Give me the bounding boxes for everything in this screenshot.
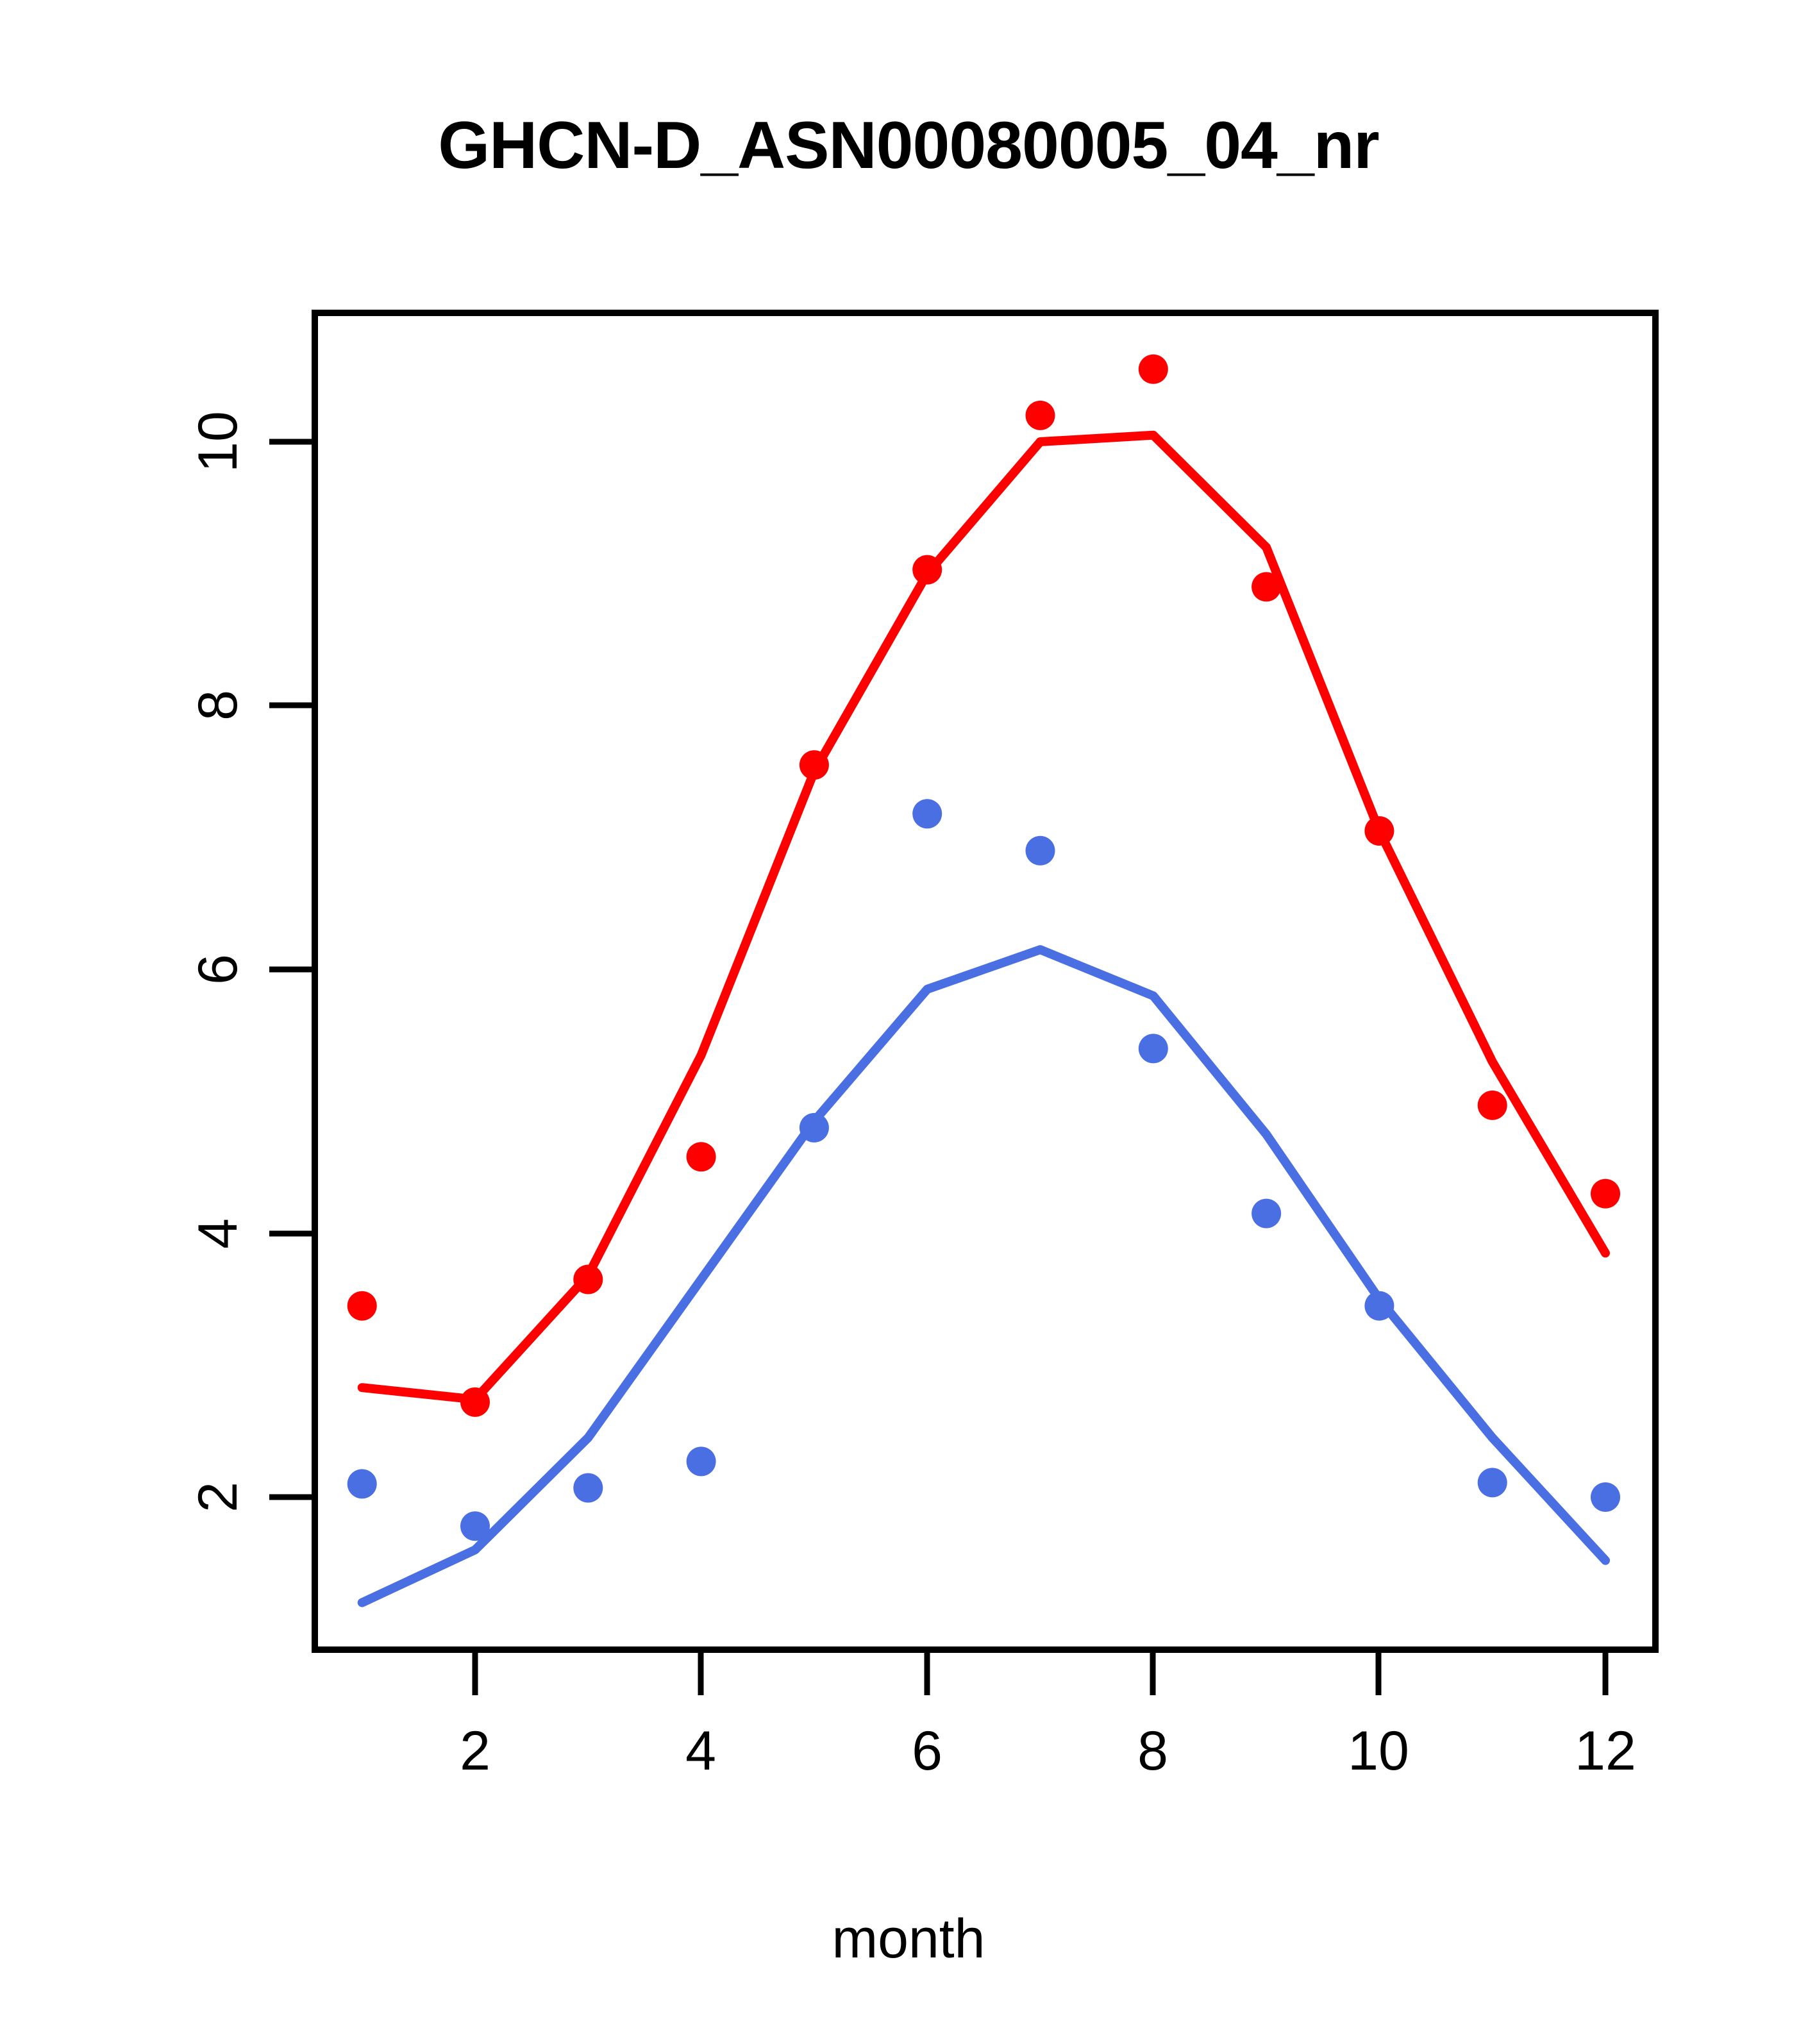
y-tick-label-4: 4: [187, 1218, 249, 1249]
data-point: [1591, 1482, 1620, 1512]
y-axis-ticks: [269, 442, 315, 1497]
x-tick-label-12: 12: [1575, 1720, 1636, 1782]
blue-points: [347, 799, 1620, 1541]
data-point: [1139, 355, 1168, 384]
chart-canvas: 10 8 6 4 2 2 4 6 8 10 12: [0, 0, 1817, 2044]
data-point: [1252, 1199, 1281, 1228]
data-point: [1478, 1091, 1507, 1120]
y-tick-label-10: 10: [187, 411, 249, 473]
plot-page: GHCN-D_ASN00080005_04_nr 10 8 6 4 2: [0, 0, 1817, 2044]
data-point: [1026, 836, 1055, 866]
x-axis-ticks: [475, 1650, 1605, 1695]
x-tick-label-8: 8: [1137, 1720, 1168, 1782]
x-tick-label-10: 10: [1348, 1720, 1409, 1782]
data-point: [573, 1473, 603, 1503]
blue-line: [362, 950, 1605, 1603]
data-point: [912, 799, 942, 828]
data-point: [1591, 1179, 1620, 1209]
data-point: [1026, 401, 1055, 430]
x-tick-label-6: 6: [912, 1720, 942, 1782]
data-point: [687, 1142, 716, 1171]
y-tick-label-6: 6: [187, 954, 249, 985]
data-point: [347, 1469, 377, 1498]
x-axis-title: month: [0, 1907, 1817, 1971]
y-axis-labels: 10 8 6 4 2: [187, 411, 249, 1512]
data-series-layer: [347, 355, 1620, 1603]
data-point: [687, 1446, 716, 1476]
y-tick-label-8: 8: [187, 690, 249, 721]
data-point: [347, 1291, 377, 1321]
x-tick-label-4: 4: [685, 1720, 716, 1782]
y-tick-label-2: 2: [187, 1482, 249, 1512]
data-point: [1139, 1034, 1168, 1063]
data-point: [1478, 1468, 1507, 1497]
red-line: [362, 435, 1605, 1400]
x-axis-labels: 2 4 6 8 10 12: [460, 1720, 1636, 1782]
x-tick-label-2: 2: [460, 1720, 490, 1782]
